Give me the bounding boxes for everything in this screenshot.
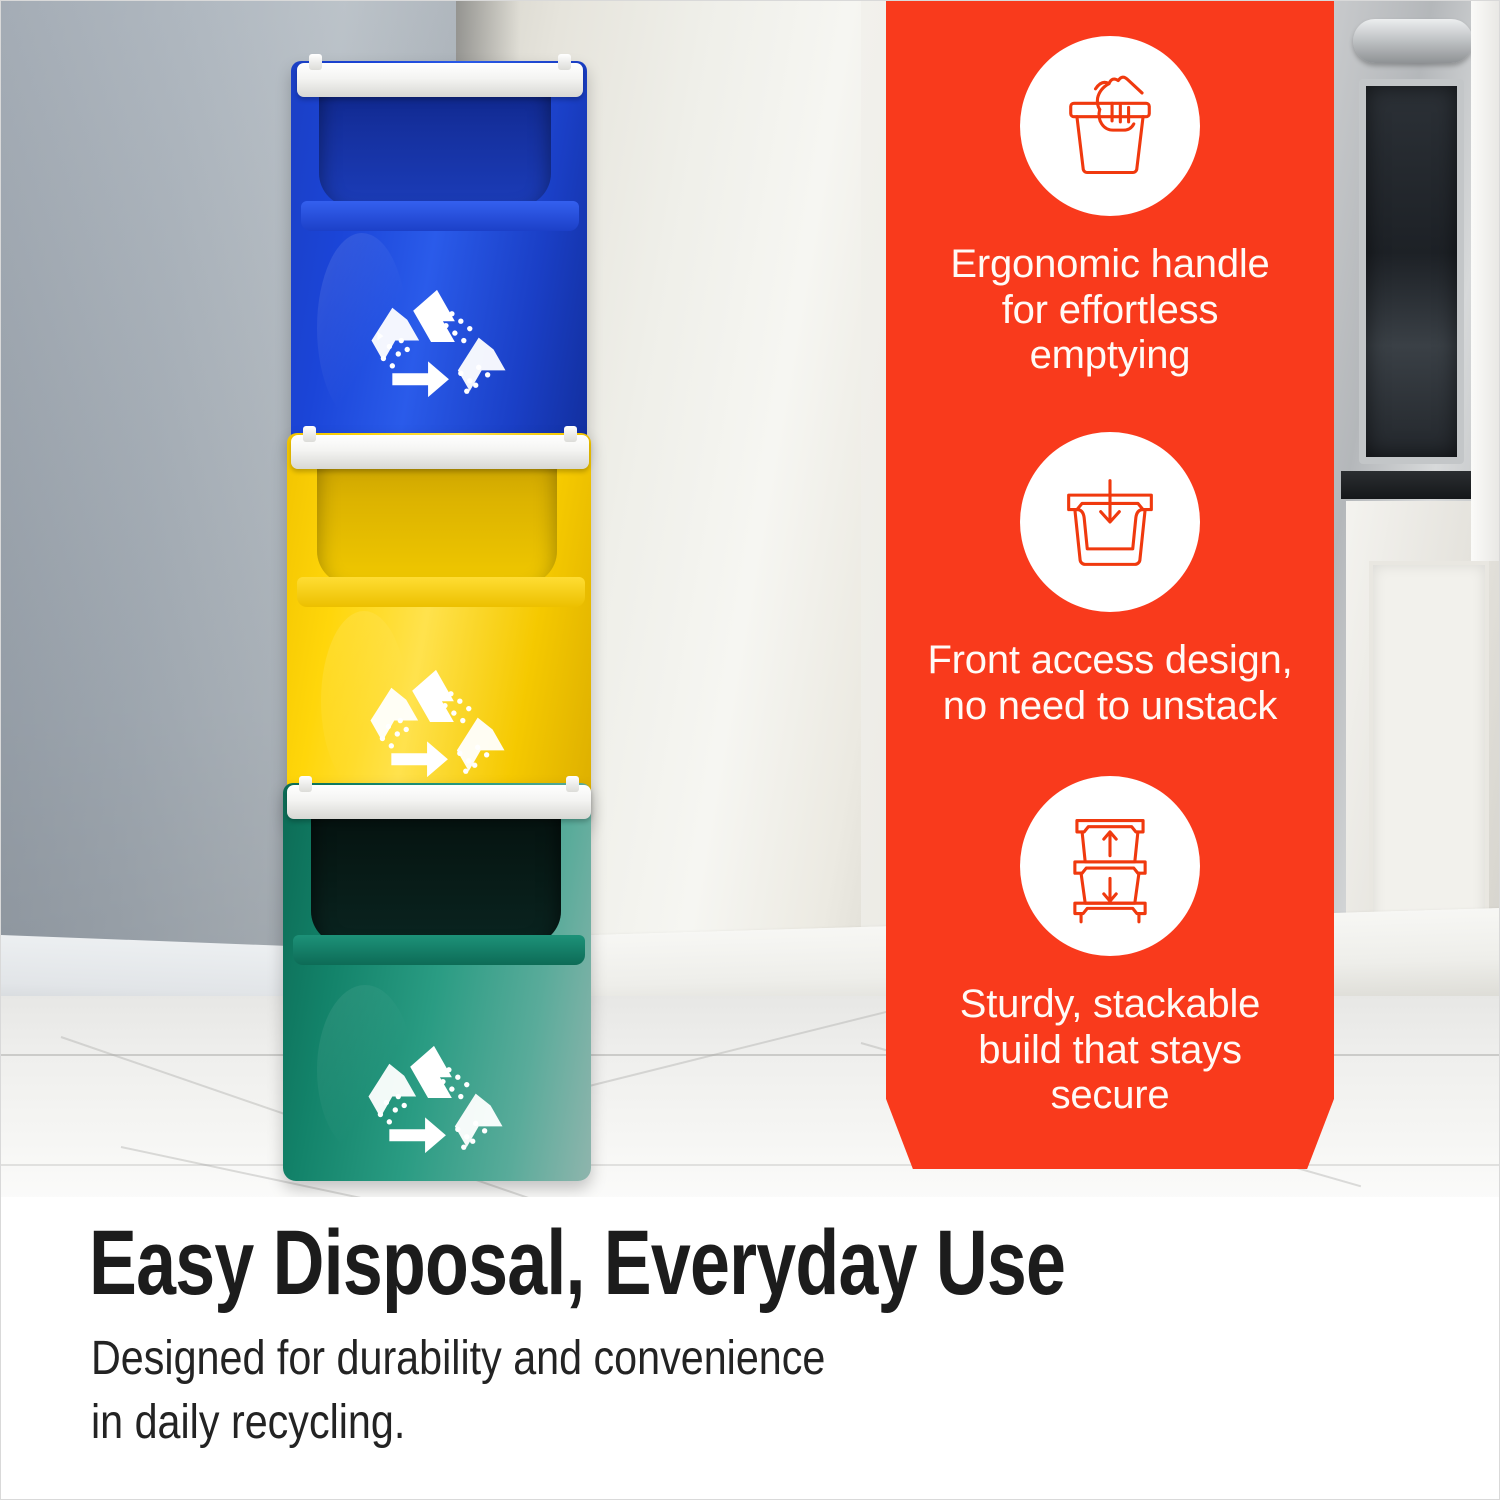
recycling-symbol-yellow <box>361 661 511 795</box>
feature-icon-circle-2 <box>1020 432 1200 612</box>
oven-window <box>1359 79 1464 464</box>
feature-item-1: Ergonomic handle for effortless emptying <box>886 36 1334 379</box>
stacked-bins-arrows-icon <box>1048 804 1172 928</box>
feature-item-2: Front access design, no need to unstack <box>886 432 1334 729</box>
bin-front-lip-green <box>293 935 585 965</box>
oven-vent <box>1341 471 1491 499</box>
bin-handle-rail-yellow <box>291 435 589 469</box>
recycling-symbol-green <box>359 1037 509 1171</box>
feature-icon-circle-3 <box>1020 776 1200 956</box>
bin-front-lip-blue <box>301 201 579 231</box>
product-infographic: Ergonomic handle for effortless emptying… <box>0 0 1500 1500</box>
subheadline: Designed for durability and convenience … <box>91 1327 825 1455</box>
headline: Easy Disposal, Everyday Use <box>89 1211 1065 1316</box>
bin-handle-rail-blue <box>297 63 583 97</box>
bin-front-lip-yellow <box>297 577 585 607</box>
feature-label-3: Sturdy, stackable build that stays secur… <box>886 982 1334 1119</box>
hand-lifting-bin-icon <box>1048 64 1172 188</box>
feature-icon-circle-1 <box>1020 36 1200 216</box>
feature-label-1: Ergonomic handle for effortless emptying <box>886 242 1334 379</box>
feature-item-3: Sturdy, stackable build that stays secur… <box>886 776 1334 1119</box>
appliance-edge <box>1471 1 1500 561</box>
recycling-symbol-blue <box>362 281 512 415</box>
bottom-copy-block: Easy Disposal, Everyday Use Designed for… <box>1 1197 1500 1500</box>
arrow-into-bin-icon <box>1048 460 1172 584</box>
feature-panel: Ergonomic handle for effortless emptying… <box>886 1 1334 1169</box>
feature-label-2: Front access design, no need to unstack <box>886 638 1334 729</box>
stacked-bin-set <box>277 53 627 1168</box>
oven-handle <box>1353 19 1473 63</box>
